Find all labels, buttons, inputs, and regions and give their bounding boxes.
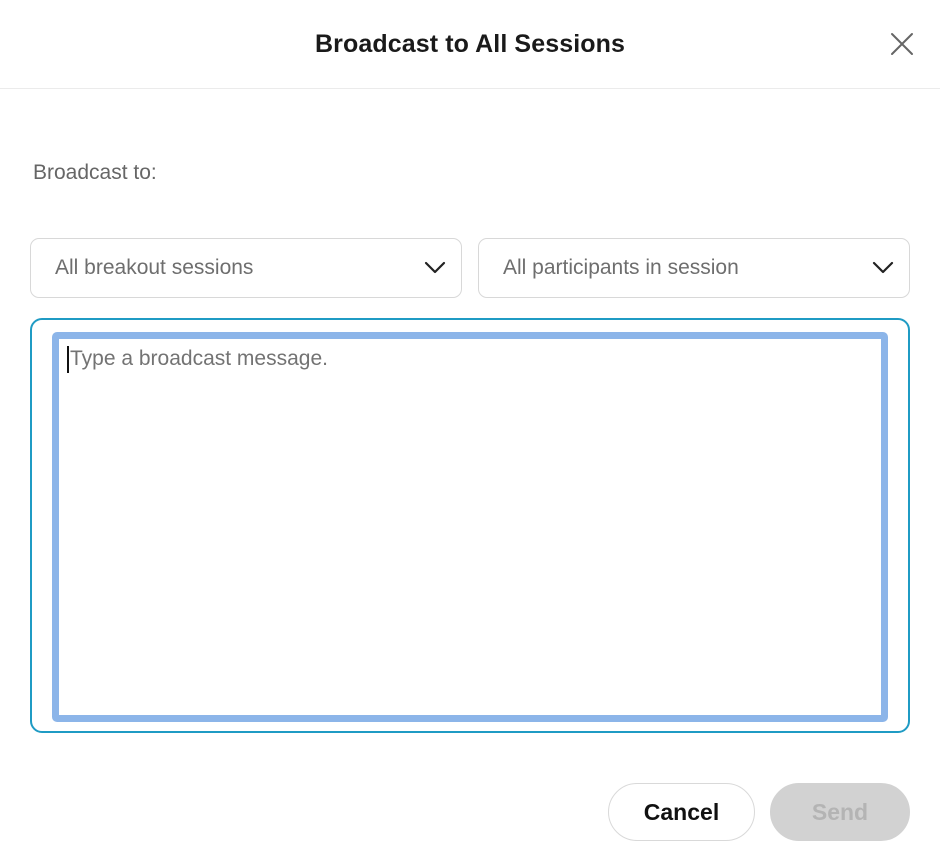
dialog-header: Broadcast to All Sessions: [0, 0, 940, 89]
broadcast-target-row: All breakout sessions All participants i…: [30, 238, 910, 298]
chevron-down-icon: [857, 261, 909, 275]
dialog-footer: Cancel Send: [0, 783, 940, 843]
cancel-button[interactable]: Cancel: [608, 783, 755, 841]
broadcast-message-container[interactable]: Type a broadcast message.: [30, 318, 910, 733]
chevron-down-icon: [409, 261, 461, 275]
broadcast-message-placeholder: Type a broadcast message.: [70, 345, 328, 373]
page-title: Broadcast to All Sessions: [0, 0, 940, 88]
audience-select[interactable]: All participants in session: [478, 238, 910, 298]
session-select-value: All breakout sessions: [31, 256, 409, 280]
text-caret: [67, 346, 69, 373]
audience-select-value: All participants in session: [479, 256, 857, 280]
session-select[interactable]: All breakout sessions: [30, 238, 462, 298]
send-button: Send: [770, 783, 910, 841]
broadcast-message-input[interactable]: Type a broadcast message.: [59, 339, 881, 715]
close-button[interactable]: [876, 18, 928, 70]
broadcast-message-focus-ring: Type a broadcast message.: [52, 332, 888, 722]
broadcast-to-label: Broadcast to:: [33, 161, 157, 185]
broadcast-dialog: Broadcast to All Sessions Broadcast to: …: [0, 0, 940, 858]
close-icon: [889, 31, 915, 57]
